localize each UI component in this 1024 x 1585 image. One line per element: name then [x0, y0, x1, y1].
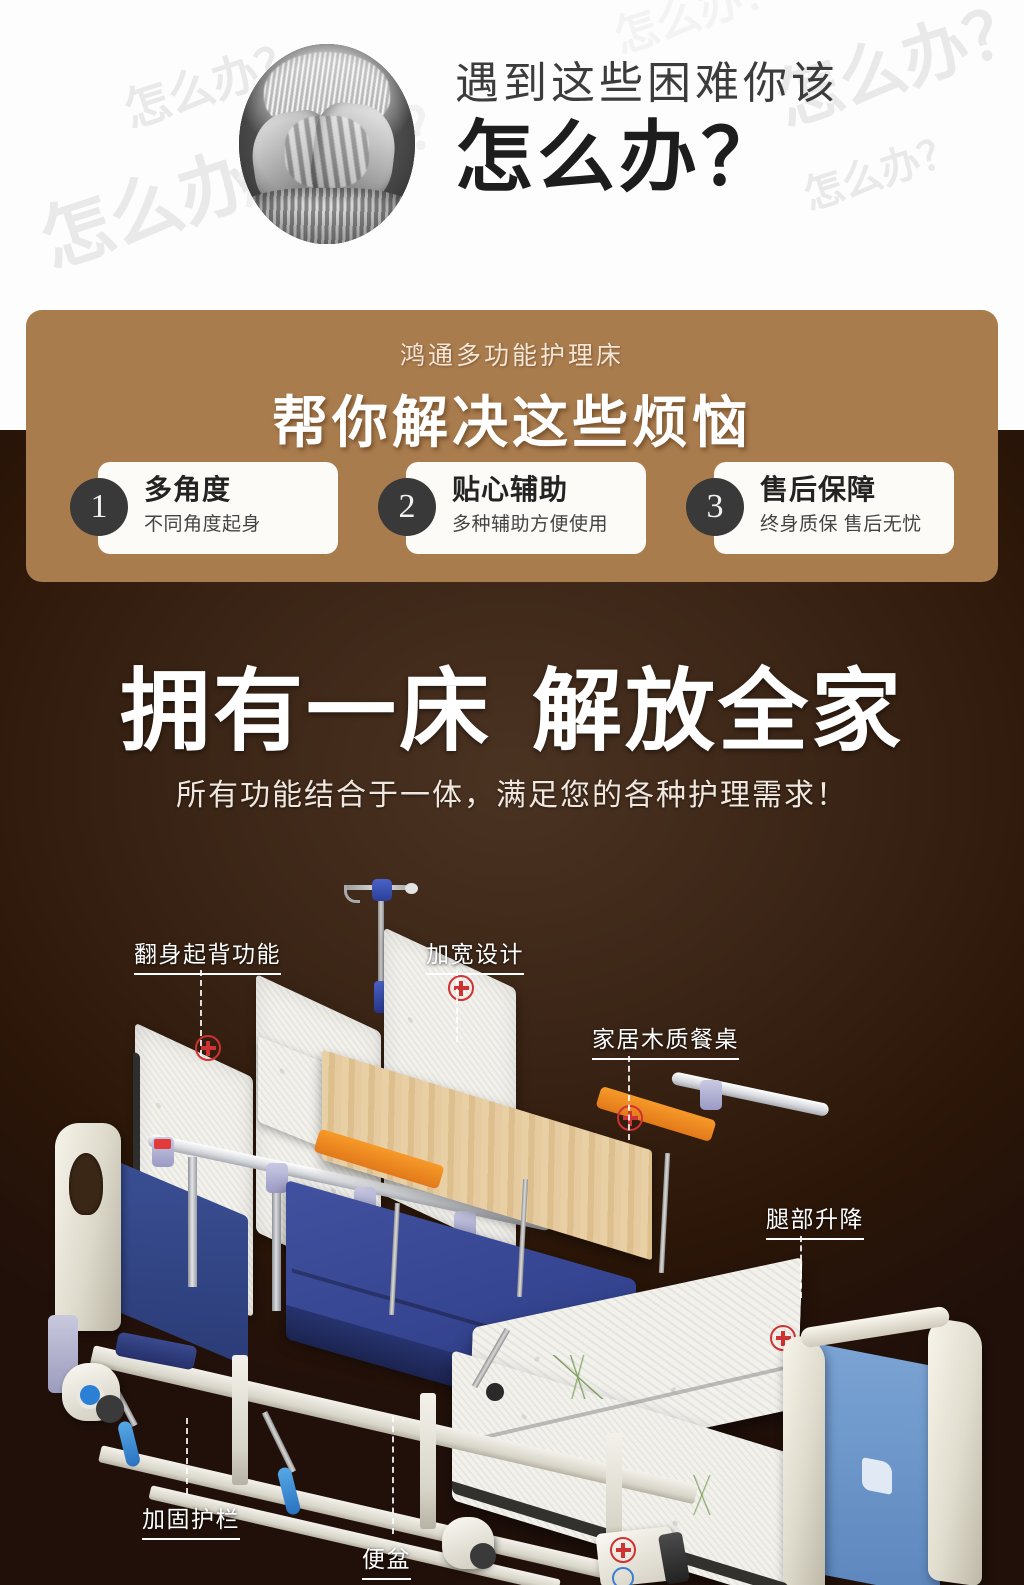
callout-label-flip-back: 翻身起背功能	[134, 935, 281, 975]
red-cross-logo	[195, 1035, 221, 1061]
guardrail-post	[188, 1157, 197, 1287]
promo-subtitle: 鸿通多功能护理床	[26, 310, 998, 372]
wood-table-orange-frame-right	[595, 1086, 716, 1142]
promo-title: 帮你解决这些烦恼	[26, 378, 998, 459]
header-line-1: 遇到这些困难你该	[455, 62, 839, 106]
crank-handle-rod	[262, 1411, 296, 1473]
bedpan-blue-icon	[612, 1567, 634, 1585]
headboard-handle-cutout	[69, 1153, 103, 1215]
dark-content-area: 拥有一床解放全家 所有功能结合于一体，满足您的各种护理需求！	[0, 430, 1024, 1585]
feature-description: 不同角度起身	[144, 509, 261, 536]
header-line-2: 怎么办？	[455, 114, 839, 201]
guardrail-red-marker	[154, 1139, 171, 1149]
guardrail-clip	[266, 1163, 288, 1193]
feature-number-badge: 2	[378, 478, 436, 536]
callout-label-leg-lift: 腿部升降	[766, 1200, 864, 1240]
base-frame-cross-member	[420, 1393, 436, 1529]
caster-tire	[470, 1543, 496, 1569]
callout-label-wood-table: 家居木质餐桌	[592, 1020, 739, 1060]
callout-leader-flip-back	[200, 970, 202, 1056]
slogan-part-1: 拥有一床	[120, 662, 492, 762]
wood-table-leg	[659, 1153, 670, 1273]
feature-number-badge: 1	[70, 478, 128, 536]
iv-pole-hook-left	[344, 885, 360, 903]
feature-title: 贴心辅助	[452, 474, 608, 506]
red-cross-logo	[617, 1105, 643, 1131]
footboard-frame-outer	[928, 1317, 982, 1585]
promo-banner: 鸿通多功能护理床 帮你解决这些烦恼 1 多角度 不同角度起身 2 贴心辅助 多种…	[26, 310, 998, 582]
feature-title: 售后保障	[760, 474, 922, 506]
main-subheading: 所有功能结合于一体，满足您的各种护理需求！	[0, 770, 1024, 814]
feature-list: 1 多角度 不同角度起身 2 贴心辅助 多种辅助方便使用 3 售后保障 终身质保…	[26, 462, 998, 554]
callout-label-guardrail: 加固护栏	[142, 1500, 240, 1540]
callout-leader-wood-table	[628, 1056, 630, 1140]
callout-leader-widened	[456, 970, 458, 1042]
product-illustration	[0, 885, 1024, 1585]
callout-leader-guardrail	[186, 1418, 188, 1494]
feature-card-3[interactable]: 3 售后保障 终身质保 售后无忧	[686, 462, 954, 554]
guardrail-clip	[700, 1080, 722, 1110]
red-cross-logo	[448, 975, 474, 1001]
crank-knob	[486, 1383, 504, 1401]
footboard-logo-mark	[862, 1457, 892, 1495]
callout-label-bedpan: 便盆	[362, 1540, 411, 1580]
feature-number-badge: 3	[686, 478, 744, 536]
iv-pole-knob-right	[405, 883, 418, 894]
red-cross-logo	[610, 1537, 636, 1563]
callout-label-widened: 加宽设计	[426, 935, 524, 975]
feature-description: 终身质保 售后无忧	[760, 509, 922, 536]
feature-description: 多种辅助方便使用	[452, 509, 608, 536]
header-text-block: 遇到这些困难你该 怎么办？	[455, 62, 839, 201]
guardrail-post	[272, 1175, 281, 1311]
guardrail-bar-right	[671, 1071, 830, 1117]
floral-print	[545, 1355, 615, 1399]
base-frame-cross-member	[232, 1355, 248, 1485]
feature-card-1[interactable]: 1 多角度 不同角度起身	[70, 462, 338, 554]
slogan-part-2: 解放全家	[532, 662, 904, 762]
caster-tire	[96, 1395, 124, 1423]
callout-leader-bedpan	[392, 1416, 394, 1534]
iv-pole-joint-top	[372, 879, 392, 901]
callout-leader-leg-lift	[800, 1236, 802, 1298]
footboard-frame-inner	[783, 1333, 825, 1585]
feature-title: 多角度	[144, 474, 261, 506]
feature-card-2[interactable]: 2 贴心辅助 多种辅助方便使用	[378, 462, 646, 554]
main-slogan: 拥有一床解放全家	[0, 638, 1024, 768]
elderly-person-photo	[239, 44, 415, 244]
